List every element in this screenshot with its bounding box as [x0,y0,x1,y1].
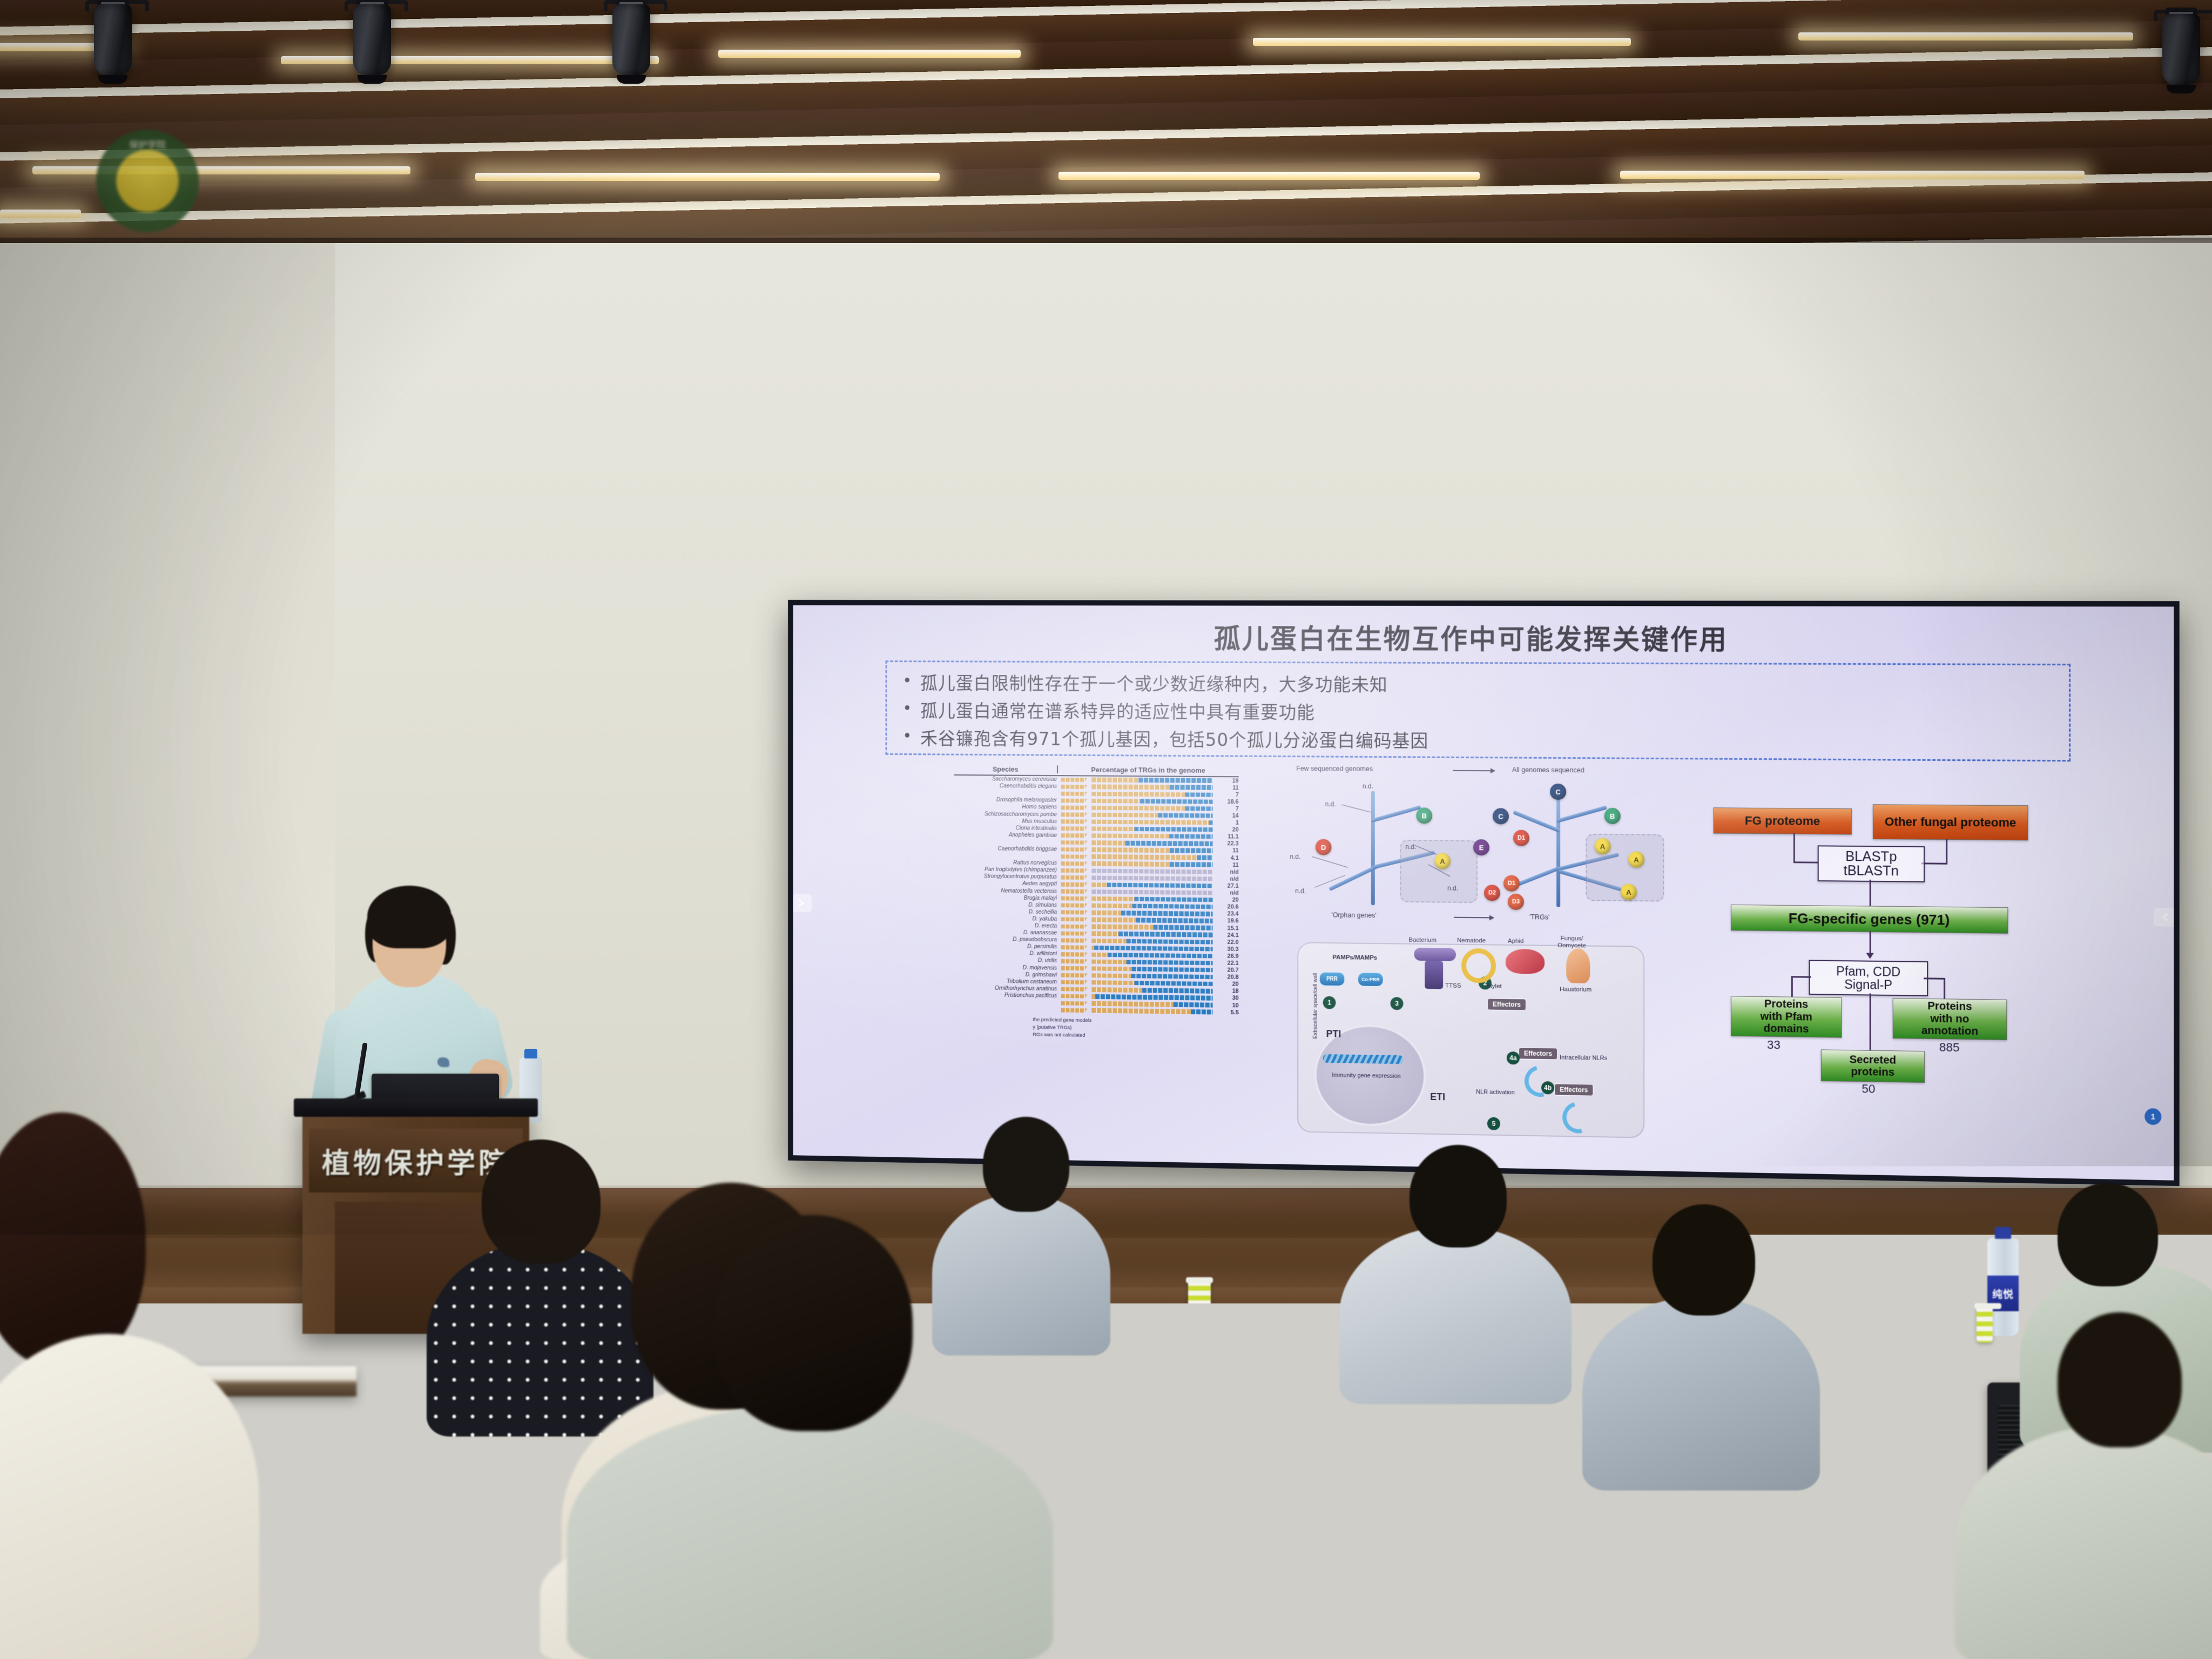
species-name: Ciona intestinalis [954,825,1061,831]
pti-label: PTI [1326,1028,1341,1040]
bacterium-icon [1414,948,1456,961]
slide-bullet: 孤儿蛋白限制性存在于一个或少数近缘种内，大多功能未知 [920,670,2069,702]
desk-leg [1220,1580,1233,1659]
trg-value: 20.8 [1213,974,1239,981]
trg-value: 20 [1213,826,1239,833]
podium-sign-text: 植物保护学院 [322,1141,510,1181]
trg-bar [1091,861,1212,867]
bottle-cap [1995,1227,2011,1239]
trg-bar [1091,854,1212,860]
ceiling-strip-light [1798,32,2133,41]
mini-bar [1061,785,1088,789]
trg-value: 10 [1213,1002,1239,1009]
tree-all-genomes: C C B E D1 D1 D2 D3 A A A [1474,779,1653,910]
tree-node: A [1594,838,1610,854]
trg-value: 11 [1213,861,1239,868]
chair [1204,1404,1453,1582]
trg-value: 7 [1213,792,1239,798]
stage-light [2149,10,2212,91]
trg-bar [1091,994,1212,1000]
step-marker: 4a [1507,1051,1520,1064]
audience-head [1410,1145,1507,1247]
nlr-icon [1519,1060,1561,1103]
tree-node: D1 [1513,830,1529,846]
trg-bar [1091,827,1212,832]
trg-bar [1091,903,1212,909]
species-name: D. sechellia [954,908,1061,915]
orphan-genes-label: 'Orphan genes' [1332,911,1377,919]
trg-bar [1091,882,1212,888]
ceiling-strip-light [475,173,940,181]
step-marker: 3 [1391,997,1404,1010]
trg-value: n/d [1213,889,1239,896]
nd-label: n.d. [1447,885,1458,892]
trg-bar [1091,833,1212,839]
trg-bar [1091,792,1212,797]
trg-bar [1091,918,1212,923]
fg-flowchart: FG proteome Other fungal proteome BLASTp… [1697,770,2073,1124]
audience-torso [427,1242,653,1437]
mini-bar [1061,778,1088,782]
trg-value: 11 [1213,785,1239,791]
flow-box-secreted-proteins: Secreted proteins [1821,1049,1925,1083]
trg-bar [1091,911,1212,916]
trg-bar [1091,889,1212,895]
trg-bar [1091,1001,1212,1007]
species-name [954,841,1061,842]
ceiling-strip-light [1620,171,2085,179]
species-name: Anopheles gambiae [954,832,1061,838]
species-name: Schizosaccharomyces pombe [954,811,1061,817]
mini-bar [1061,952,1088,956]
effectors-tag: Effectors [1519,1047,1557,1060]
trg-value: 20.6 [1213,903,1239,910]
mini-bar [1061,868,1088,873]
college-emblem: 保护学院 [96,130,199,232]
stage-light [599,0,664,81]
mini-bar [1061,917,1088,921]
trg-value: 11.1 [1213,833,1239,840]
nlr-activation-label: NLR activation [1471,1089,1520,1097]
trg-value: 22.3 [1213,840,1239,847]
audience-torso [1582,1296,1820,1491]
flow-box-fg-specific-genes: FG-specific genes (971) [1731,905,2008,934]
tree-node: D2 [1484,885,1500,901]
slide-next-icon[interactable] [2154,908,2174,927]
organism-label-aphid: Aphid [1508,938,1523,945]
audience-head [983,1117,1069,1212]
trg-bar [1091,925,1212,930]
trg-bar [1091,806,1212,811]
trg-bar [1091,952,1212,958]
trg-value: 5.5 [1213,1009,1239,1016]
slide-prev-icon[interactable] [793,894,812,912]
mini-bar [1061,980,1088,985]
mini-bar [1061,875,1088,880]
trg-value: 19.6 [1213,918,1239,924]
trg-bar [1091,932,1212,938]
step-marker: 4b [1541,1081,1554,1094]
species-name: Drosophila melanogaster [954,797,1061,804]
lecture-hall-photo: 孤儿蛋白在生物互作中可能发挥关键作用 孤儿蛋白限制性存在于一个或少数近缘种内，大… [0,0,2212,1659]
speaker-hair [367,886,451,948]
tree-few-genomes: B D A n.d. n.d. n.d. n.d. n.d. n.d. [1292,783,1469,908]
mini-bar [1061,931,1088,935]
audience-torso [932,1193,1110,1355]
species-name: D. pseudoobscura [954,936,1061,943]
trg-bar [1091,778,1212,783]
species-name: D. simulans [954,901,1061,908]
trg-bar [1091,946,1212,952]
ceiling-strip-light [718,50,1021,58]
effectors-tag: Effectors [1554,1083,1593,1096]
ttss-label: TTSS [1445,982,1461,989]
mini-bar [1061,812,1088,817]
organism-label-fungus: Fungus/ Oomycete [1557,935,1586,950]
mini-bar [1061,924,1088,928]
species-name: Brugia malayi [954,894,1061,901]
trg-value: 14 [1213,813,1239,819]
desk-leg [1177,1357,1188,1438]
trg-value: 15.1 [1213,925,1239,931]
flow-box-fg-proteome: FG proteome [1714,807,1852,834]
tree-node: D3 [1508,894,1524,910]
dna-icon [1323,1054,1404,1064]
tree-node: C [1550,784,1566,800]
nd-label: n.d. [1405,843,1416,851]
trg-value: 20 [1213,896,1239,903]
mini-bar [1061,994,1088,999]
trg-value: 24.1 [1213,932,1239,938]
trg-bar [1091,875,1212,881]
trg-value: 19 [1213,778,1239,784]
tree-node: D [1316,839,1332,855]
organism-label-nematode: Nematode [1457,938,1486,945]
chair [1523,1512,1750,1659]
tree-node: A [1434,853,1451,869]
nlr-icon [1557,1096,1600,1138]
audience-head [1653,1204,1755,1316]
mini-bar [1061,882,1088,887]
trg-value: 4.1 [1213,854,1239,861]
column-header-species: Species [954,765,1057,773]
haustorium-label: Haustorium [1560,986,1591,993]
mini-bar [1061,889,1088,894]
flow-box-other-fungal-proteome: Other fungal proteome [1873,804,2028,840]
step-marker: 1 [1323,996,1336,1009]
flow-box-blast: BLASTp tBLASTn [1818,845,1925,882]
species-name [954,1009,1061,1010]
ceiling-strip-light [0,210,81,218]
trg-value: 1 [1213,819,1239,826]
stage-light [81,0,146,81]
mini-bar [1061,938,1088,942]
flow-box-proteins-with-pfam: Proteins with Pfam domains [1731,996,1842,1037]
species-name: D. yakuba [954,915,1061,922]
projection-screen: 孤儿蛋白在生物互作中可能发挥关键作用 孤儿蛋白限制性存在于一个或少数近缘种内，大… [793,605,2174,1181]
mini-bar [1061,847,1088,852]
pamps-label: PAMPs/MAMPs [1333,954,1378,961]
trg-value: 11 [1213,847,1239,854]
ttss-icon [1425,961,1443,989]
species-name: D. ananassae [954,929,1061,936]
polo-logo [437,1057,449,1067]
ceiling-strip-light [1058,172,1480,180]
ceiling-strip-light [1253,38,1631,46]
flow-box-proteins-no-annotation: Proteins with no annotation [1893,998,2007,1040]
extracellular-space-label: Extracellular space/cell wall [1312,953,1318,1038]
emblem-text: 保护学院 [96,137,199,151]
immunity-gene-label: Immunity gene expression [1326,1071,1407,1081]
trg-bar [1091,820,1212,825]
co-prr-receptor: Co-PRR [1357,972,1384,987]
tree-node: A [1621,884,1637,900]
flow-box-pfam-cdd: Pfam, CDD Signal-P [1809,960,1928,996]
effectors-tag: Effectors [1487,998,1526,1010]
mini-bar [1061,854,1088,859]
species-name: Saccharomyces cerevisiae [954,776,1061,783]
count-secreted: 50 [1862,1082,1875,1096]
trg-bar [1091,987,1212,993]
nd-label: n.d. [1325,800,1336,808]
trg-value: 20 [1213,981,1239,988]
trg-bar [1091,980,1212,986]
audience-torso [1339,1226,1572,1404]
prr-receptor: PRR [1319,972,1345,987]
mini-bar [1061,819,1088,824]
mini-bar [1061,826,1088,831]
tree-node: E [1473,839,1489,855]
trg-value: 18 [1213,988,1239,995]
count-pfam: 33 [1767,1038,1781,1053]
trg-species-table: Species Percentage of TRGs in the genome… [954,765,1239,1041]
trg-bar [1091,840,1212,846]
tree-label-right: All genomes sequenced [1512,766,1584,774]
eti-label: ETI [1430,1091,1445,1103]
tree-node: B [1604,808,1621,824]
stylet-label: Stylet [1486,983,1502,989]
tree-arrow-icon [1454,917,1494,919]
mini-bar [1061,792,1088,796]
species-name: D. willistoni [954,950,1061,957]
trg-value: 27.1 [1213,882,1239,889]
audience-head [2058,1183,2158,1286]
striped-cup [1977,1307,1993,1343]
slide-bullet: 禾谷镰孢含有971个孤儿基因，包括50个孤儿分泌蛋白编码基因 [920,725,2069,759]
step-marker: 5 [1487,1117,1500,1130]
mini-bar [1061,1008,1088,1013]
trg-bar [1091,966,1212,972]
species-name [954,1002,1061,1003]
mini-bar [1061,896,1088,901]
phone-on-desk [1242,1324,1294,1339]
mini-bar [1061,861,1088,866]
mini-bar [1061,840,1088,845]
tree-label-left: Few sequenced genomes [1296,765,1373,773]
mini-bar [1061,833,1088,838]
species-name: Homo sapiens [954,804,1061,811]
trg-bar [1091,799,1212,804]
trg-value: 22.0 [1213,939,1239,945]
projection-screen-frame: 孤儿蛋白在生物互作中可能发挥关键作用 孤儿蛋白限制性存在于一个或少数近缘种内，大… [788,600,2180,1186]
intracellular-nlrs-label: Intracellular NLRs [1560,1054,1620,1062]
audience-head [482,1139,601,1264]
audience-head [713,1215,913,1431]
species-name [954,793,1061,793]
nd-label: n.d. [1295,887,1306,895]
mini-bar [1061,805,1088,810]
nd-label: n.d. [1290,853,1300,860]
tree-node: A [1628,852,1644,868]
aphid-icon [1506,949,1545,974]
species-name: Mus musculus [954,818,1061,824]
tree-node: D1 [1503,875,1520,892]
tree-arrow-icon [1453,770,1495,771]
species-name: Pan troglodytes (chimpanzee) [954,867,1061,874]
nematode-icon [1461,948,1496,983]
trg-bar [1091,896,1212,902]
trg-value: 18.6 [1213,799,1239,805]
mini-bar [1061,910,1088,914]
trg-value: 23.4 [1213,911,1239,917]
species-name: Caenorhabditis elegans [954,783,1061,790]
trg-bar [1091,847,1212,853]
trg-value: 30.3 [1213,946,1239,952]
audience-head [2058,1312,2182,1447]
mini-bar [1061,799,1088,803]
species-name: D. persimilis [954,943,1061,950]
trg-bar [1091,785,1212,790]
slide-bullet-box: 孤儿蛋白限制性存在于一个或少数近缘种内，大多功能未知 孤儿蛋白通常在谱系特异的适… [886,660,2071,761]
trg-bar [1091,973,1212,979]
species-name: D. erecta [954,922,1061,929]
ceiling-strip-light [32,166,410,174]
tree-node: B [1416,807,1432,824]
species-name: Rattus norvegicus [954,860,1061,867]
species-name: Aedes aegypti [954,880,1061,887]
trg-value: 20.7 [1213,967,1239,974]
mini-bar [1061,1001,1088,1006]
trg-bar [1091,939,1212,945]
trg-value: n/d [1213,875,1239,882]
trg-value: 30 [1213,995,1239,1002]
audience-torso [567,1404,1053,1659]
species-name [954,855,1061,857]
slide-title: 孤儿蛋白在生物互作中可能发挥关键作用 [793,617,2174,658]
species-name: Nematostella vectensis [954,887,1061,894]
tree-node: C [1493,808,1509,824]
count-no-annotation: 885 [1939,1040,1960,1055]
trg-value: n/d [1213,868,1239,875]
fungus-hypha-icon [1566,948,1590,983]
mini-bar [1061,987,1088,992]
nd-label: n.d. [1363,783,1373,790]
trg-bar [1091,813,1212,818]
podium-top [294,1098,538,1117]
trg-value: 22.1 [1213,960,1239,966]
mini-bar [1061,973,1088,978]
stage-light [340,0,405,81]
trg-bar [1091,1008,1212,1014]
species-name: Caenorhabditis briggsae [954,846,1061,853]
striped-cup [1188,1281,1211,1331]
species-name: Strongylocentrotus purpuratus [954,873,1061,880]
trg-value: 7 [1213,806,1239,812]
mini-bar [1061,903,1088,907]
slide-page-number: 1 [2144,1108,2161,1125]
trg-value: 26.9 [1213,953,1239,959]
mini-bar [1061,966,1088,971]
column-header-percentage: Percentage of TRGs in the genome [1057,765,1239,774]
table-footnote: the predicted gene models y (putative TR… [954,1015,1239,1041]
mini-bar [1061,945,1088,949]
mini-bar [1061,959,1088,963]
trg-bar [1091,959,1212,965]
trg-bar [1091,868,1212,874]
trgs-label: 'TRGs' [1529,913,1550,921]
tree-and-immunity-diagram: Few sequenced genomes All genomes sequen… [1286,765,1653,1147]
organism-label-bacterium: Bacterium [1408,937,1437,944]
